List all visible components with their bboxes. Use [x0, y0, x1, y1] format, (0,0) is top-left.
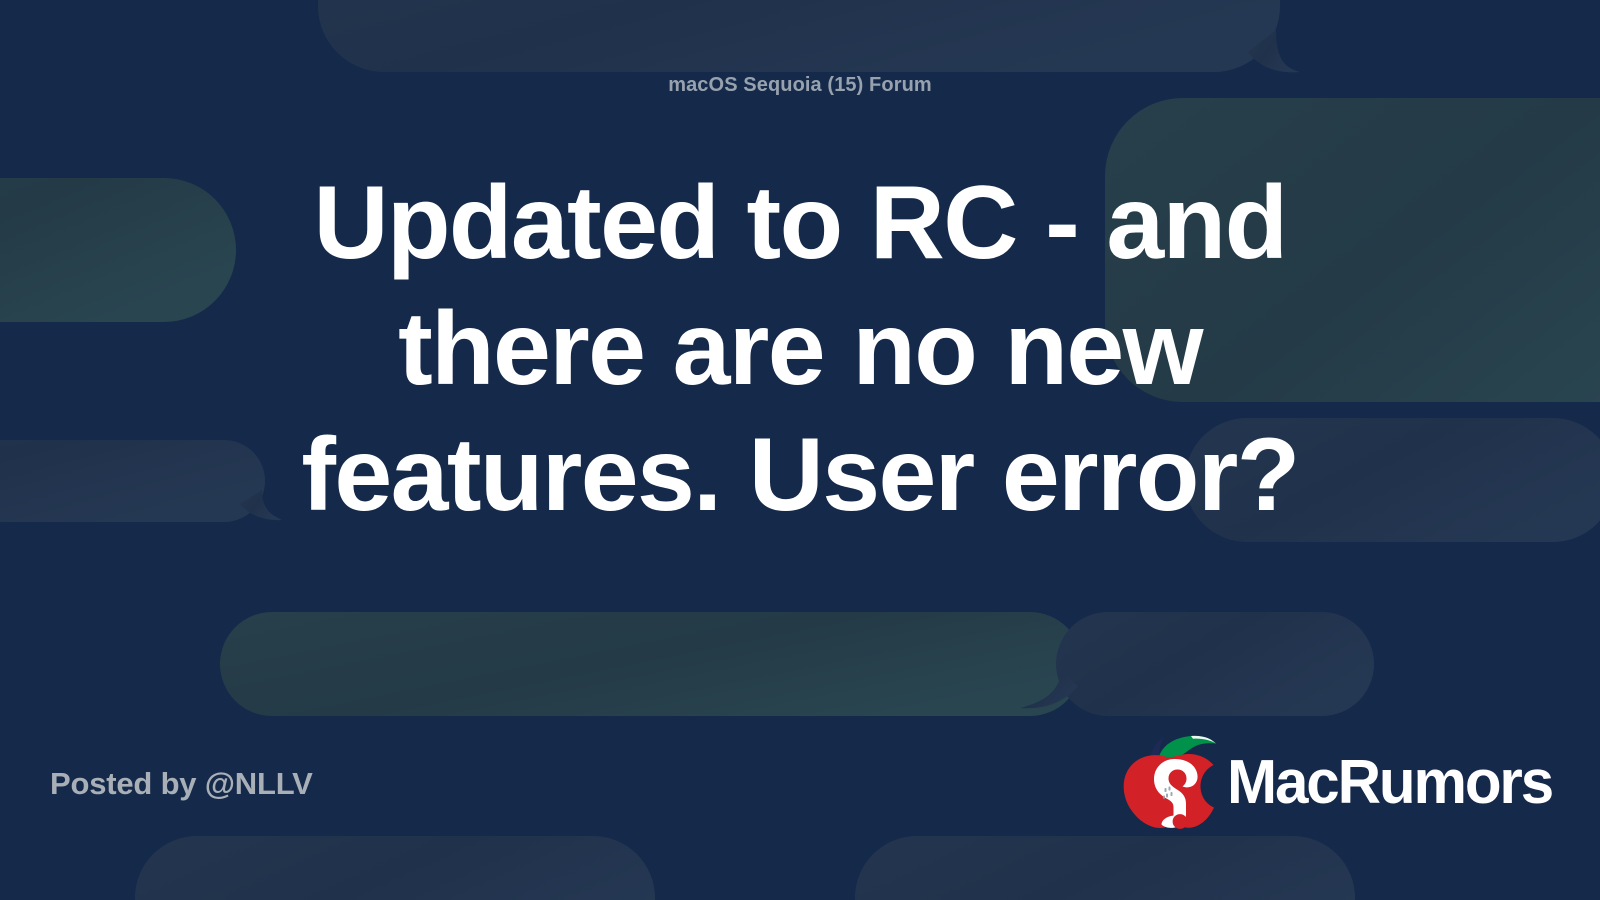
bubble-bottom-center: [855, 836, 1355, 900]
bubble-top-center: [318, 0, 1300, 72]
question-mark-dot: [1173, 814, 1188, 829]
forum-share-card: macOS Sequoia (15) Forum Updated to RC -…: [0, 0, 1600, 900]
bubble-bottom-left: [135, 836, 655, 900]
macrumors-brand-lockup: MacRumors: [1117, 730, 1562, 836]
posted-by-label: Posted by @NLLV: [50, 766, 313, 802]
page-title: Updated to RC - and there are no new fea…: [240, 160, 1360, 538]
macrumors-apple-logo: [1117, 731, 1225, 835]
forum-category-label: macOS Sequoia (15) Forum: [0, 74, 1600, 97]
macrumors-wordmark: MacRumors: [1227, 752, 1552, 814]
headline-container: Updated to RC - and there are no new fea…: [120, 160, 1480, 680]
